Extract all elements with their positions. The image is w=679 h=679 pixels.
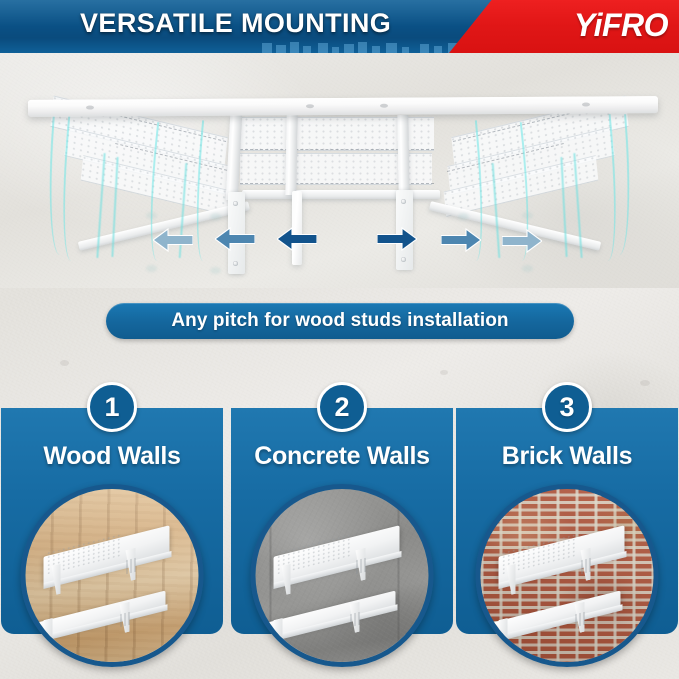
card-title-brick: Brick Walls — [456, 442, 678, 471]
wood-wall-photo — [21, 484, 204, 667]
card-number: 3 — [559, 394, 574, 421]
card-number: 2 — [334, 394, 349, 421]
arrow-right-far — [502, 228, 542, 254]
bracket-bolt — [401, 199, 406, 204]
card-number: 1 — [104, 394, 119, 421]
arrow-left-mid — [215, 226, 255, 252]
card-number-badge: 1 — [87, 382, 137, 432]
wall-type-card-concrete[interactable]: 2 Concrete Walls — [231, 408, 453, 634]
concrete-speck — [60, 360, 69, 366]
header-banner: VERSATILE MOUNTING YiFRO — [0, 0, 679, 53]
mini-bracket-slots — [351, 612, 360, 627]
wall-anchor-mark — [146, 212, 157, 219]
feature-banner-text: Any pitch for wood studs installation — [171, 310, 508, 332]
wall-type-card-brick[interactable]: 3 Brick Walls — [456, 408, 678, 634]
concrete-wall-photo — [251, 484, 434, 667]
brick-wall-photo — [476, 484, 659, 667]
brand-logo-text: YiFRO — [574, 7, 668, 44]
shelf-support-post — [397, 115, 409, 195]
wall-anchor-mark — [210, 267, 221, 274]
mini-bracket-slots — [121, 612, 130, 627]
mini-bracket-slots — [357, 558, 366, 574]
concrete-speck — [440, 370, 448, 375]
wall-anchor-mark — [522, 212, 533, 219]
wall-anchor-mark — [458, 213, 469, 220]
wall-anchor-mark — [146, 265, 157, 272]
bracket-bolt — [233, 201, 238, 206]
hero-shelf-photo — [0, 53, 679, 288]
arrow-right-mid — [441, 227, 481, 253]
wall-type-card-wood[interactable]: 1 Wood Walls — [1, 408, 223, 634]
wall-anchor-mark — [522, 265, 533, 272]
bracket-bolt — [233, 261, 238, 266]
concrete-speck — [640, 380, 650, 386]
card-title-wood: Wood Walls — [1, 442, 223, 471]
page-title: VERSATILE MOUNTING — [80, 8, 391, 39]
arrow-right-near — [377, 226, 417, 252]
mini-bracket-slots — [576, 612, 585, 627]
arrow-left-near — [277, 226, 317, 252]
bracket-bolt — [401, 257, 406, 262]
shelf-support-post — [285, 115, 297, 195]
card-number-badge: 2 — [317, 382, 367, 432]
mini-bracket-slots — [127, 558, 136, 574]
mini-bracket-slots — [582, 558, 591, 574]
card-number-badge: 3 — [542, 382, 592, 432]
wall-anchor-mark — [210, 213, 221, 220]
card-title-concrete: Concrete Walls — [231, 442, 453, 471]
arrow-left-far — [153, 227, 193, 253]
feature-banner: Any pitch for wood studs installation — [106, 303, 574, 339]
product-infographic: VERSATILE MOUNTING YiFRO — [0, 0, 679, 679]
